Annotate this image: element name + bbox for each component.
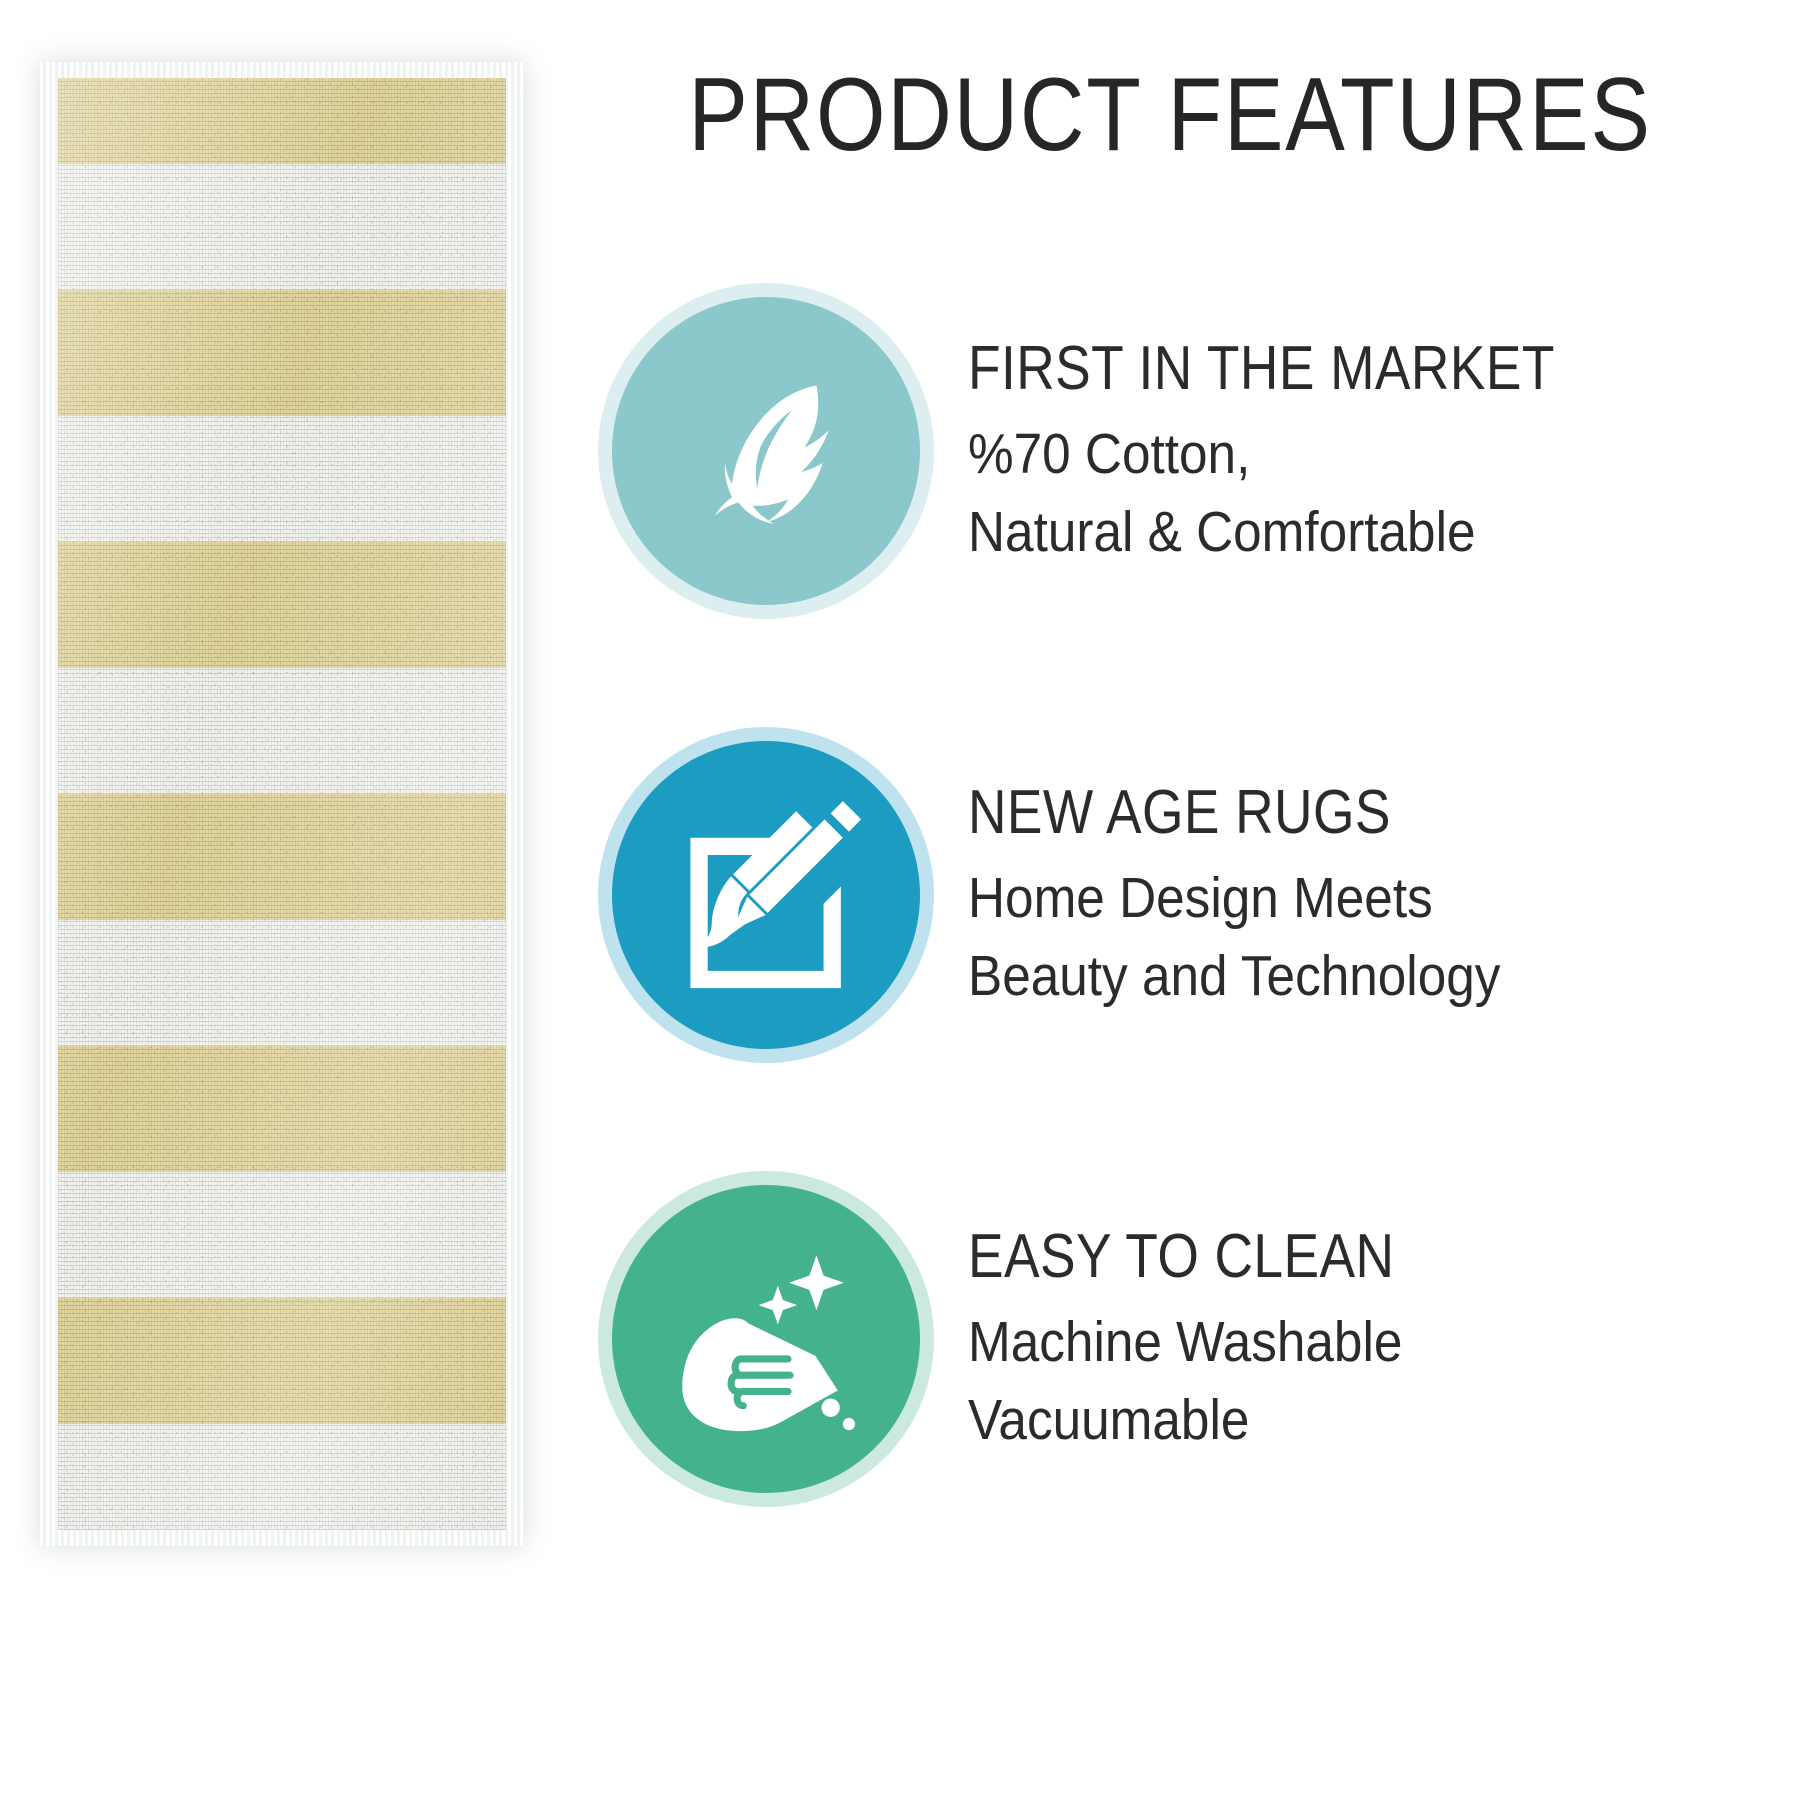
design-brush-pencil-icon bbox=[612, 741, 920, 1049]
chevron-half bbox=[282, 1172, 506, 1298]
chevron-half bbox=[58, 920, 282, 1046]
chevron-half bbox=[58, 668, 282, 794]
chevron-half bbox=[58, 1424, 282, 1530]
feature-item: FIRST IN THE MARKET %70 Cotton, Natural … bbox=[598, 278, 1778, 624]
chevron-band bbox=[58, 78, 506, 164]
chevron-half bbox=[282, 1424, 506, 1530]
feature-line: Beauty and Technology bbox=[968, 939, 1697, 1013]
chevron-half bbox=[282, 164, 506, 290]
feature-title: EASY TO CLEAN bbox=[968, 1225, 1665, 1288]
features-panel: PRODUCT FEATURES FIRST IN THE MARKET %70… bbox=[576, 0, 1800, 1800]
chevron-half bbox=[58, 542, 282, 668]
chevron-band bbox=[58, 416, 506, 542]
chevron-pattern bbox=[58, 78, 506, 1530]
feature-item: NEW AGE RUGS Home Design Meets Beauty an… bbox=[598, 722, 1778, 1068]
feature-icon-wrap bbox=[598, 1171, 934, 1507]
chevron-half bbox=[282, 1298, 506, 1424]
feature-line: Home Design Meets bbox=[968, 861, 1697, 935]
chevron-band bbox=[58, 164, 506, 290]
chevron-band bbox=[58, 794, 506, 920]
feature-line: %70 Cotton, bbox=[968, 417, 1697, 491]
chevron-half bbox=[282, 78, 506, 164]
feature-title: NEW AGE RUGS bbox=[968, 781, 1665, 844]
page-title: PRODUCT FEATURES bbox=[659, 56, 1681, 175]
chevron-half bbox=[282, 668, 506, 794]
chevron-band bbox=[58, 920, 506, 1046]
feature-line: Vacuumable bbox=[968, 1383, 1697, 1457]
chevron-half bbox=[58, 1298, 282, 1424]
feature-item: EASY TO CLEAN Machine Washable Vacuumabl… bbox=[598, 1166, 1778, 1512]
feature-line: Natural & Comfortable bbox=[968, 495, 1697, 569]
chevron-band bbox=[58, 1172, 506, 1298]
chevron-band bbox=[58, 542, 506, 668]
chevron-half bbox=[58, 78, 282, 164]
chevron-half bbox=[282, 1046, 506, 1172]
chevron-half bbox=[58, 794, 282, 920]
chevron-band bbox=[58, 668, 506, 794]
chevron-band bbox=[58, 1298, 506, 1424]
cleaning-hand-sparkle-icon bbox=[612, 1185, 920, 1493]
chevron-half bbox=[282, 290, 506, 416]
feature-line: Machine Washable bbox=[968, 1305, 1697, 1379]
chevron-half bbox=[282, 542, 506, 668]
rug-fringe-border bbox=[40, 62, 524, 1546]
chevron-half bbox=[58, 416, 282, 542]
rug-chevron-field bbox=[58, 78, 506, 1530]
chevron-band bbox=[58, 290, 506, 416]
chevron-band bbox=[58, 1424, 506, 1530]
chevron-half bbox=[282, 416, 506, 542]
feather-icon bbox=[612, 297, 920, 605]
feature-icon-wrap bbox=[598, 283, 934, 619]
feature-title: FIRST IN THE MARKET bbox=[968, 337, 1665, 400]
feature-icon-wrap bbox=[598, 727, 934, 1063]
chevron-half bbox=[282, 920, 506, 1046]
chevron-half bbox=[58, 1172, 282, 1298]
chevron-half bbox=[282, 794, 506, 920]
feature-text: EASY TO CLEAN Machine Washable Vacuumabl… bbox=[934, 1221, 1778, 1456]
product-image bbox=[40, 62, 524, 1546]
chevron-half bbox=[58, 290, 282, 416]
chevron-half bbox=[58, 164, 282, 290]
feature-text: FIRST IN THE MARKET %70 Cotton, Natural … bbox=[934, 333, 1778, 568]
feature-text: NEW AGE RUGS Home Design Meets Beauty an… bbox=[934, 777, 1778, 1012]
chevron-band bbox=[58, 1046, 506, 1172]
chevron-half bbox=[58, 1046, 282, 1172]
